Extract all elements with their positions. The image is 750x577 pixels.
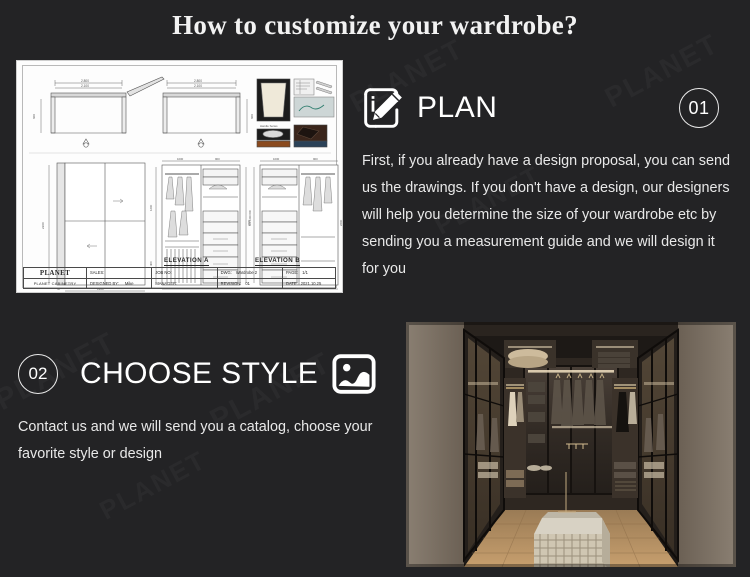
step-badge-01: 01 [679, 88, 719, 128]
step-number: 01 [688, 98, 709, 119]
field-value: 1/1 [302, 270, 308, 275]
svg-text:1900: 1900 [192, 291, 199, 293]
svg-text:2.800: 2.800 [81, 79, 89, 83]
drawing-title-block: PLANET PLANET CABINETRY SALES: DESIGNED … [23, 267, 336, 289]
pencil-edit-icon [362, 86, 406, 130]
drawing-company-name: PLANET [24, 268, 86, 279]
image-picture-icon [332, 354, 376, 394]
field-value: 01 [245, 281, 250, 286]
title-block-field: DESIGNED BY: Mike [87, 279, 151, 289]
title-block-field: DWG: Wardrobe 2 [218, 268, 282, 279]
svg-text:2.100: 2.100 [81, 84, 89, 88]
svg-text:400 1200 600: 400 1200 600 [248, 210, 252, 226]
section-title: PLAN [417, 93, 497, 123]
elevation-label-b: ELEVATION B [255, 257, 300, 266]
wardrobe-photo [406, 322, 736, 567]
section-body-text: Contact us and we will send you a catalo… [18, 414, 390, 468]
svg-text:1000: 1000 [177, 157, 184, 161]
field-label: DESIGNED BY: [90, 281, 119, 286]
field-label: DATE: [286, 281, 298, 286]
svg-text:1900: 1900 [290, 291, 297, 293]
svg-text:900: 900 [313, 157, 318, 161]
title-block-field: DATE: 2021.10.25 [283, 279, 335, 289]
section-title: CHOOSE STYLE [80, 359, 318, 389]
field-label: DWG: [221, 270, 232, 275]
section-header: 02 CHOOSE STYLE [18, 348, 390, 400]
section-header: PLAN 01 [362, 80, 734, 136]
svg-text:1350: 1350 [91, 291, 98, 293]
elevation-label-a: ELEVATION A [164, 257, 209, 266]
section-plan: PLAN 01 First, if you already have a des… [362, 80, 734, 283]
section-body-text: First, if you already have a design prop… [362, 148, 734, 283]
svg-text:Handle Series: Handle Series [260, 124, 278, 128]
svg-text:900: 900 [215, 157, 220, 161]
title-block-field: MANAGER: [152, 279, 216, 289]
drawing-company-sub: PLANET CABINETRY [24, 279, 86, 289]
page-root: PLANET PLANET PLANET PLANET PLANET PLANE… [0, 0, 750, 577]
svg-text:600: 600 [250, 114, 254, 119]
svg-text:2200: 2200 [339, 219, 343, 226]
wardrobe-photo-content [406, 322, 736, 567]
title-block-field: REVISION: 01 [218, 279, 282, 289]
svg-text:1000: 1000 [273, 157, 280, 161]
svg-text:2.800: 2.800 [194, 79, 202, 83]
title-block-field: PAGE: 1/1 [283, 268, 335, 279]
section-choose-style: 02 CHOOSE STYLE Contact us and we will s… [18, 348, 390, 468]
technical-drawing-image: 2.800 2.100 600 [16, 60, 343, 293]
svg-text:400: 400 [149, 261, 153, 266]
page-title: How to customize your wardrobe? [0, 10, 750, 41]
field-value: Wardrobe 2 [236, 270, 257, 275]
svg-text:2.100: 2.100 [194, 84, 202, 88]
svg-text:600: 600 [32, 114, 36, 119]
field-value: Mike [125, 281, 134, 286]
svg-text:1200: 1200 [149, 204, 153, 211]
title-block-field: SALES: [87, 268, 151, 279]
title-block-field: JOB NO: [152, 268, 216, 279]
step-number: 02 [29, 364, 48, 384]
field-label: REVISION: [221, 281, 242, 286]
field-value: 2021.10.25 [301, 281, 322, 286]
step-badge-02: 02 [18, 354, 58, 394]
field-label: PAGE: [286, 270, 298, 275]
svg-text:2200: 2200 [41, 222, 45, 229]
